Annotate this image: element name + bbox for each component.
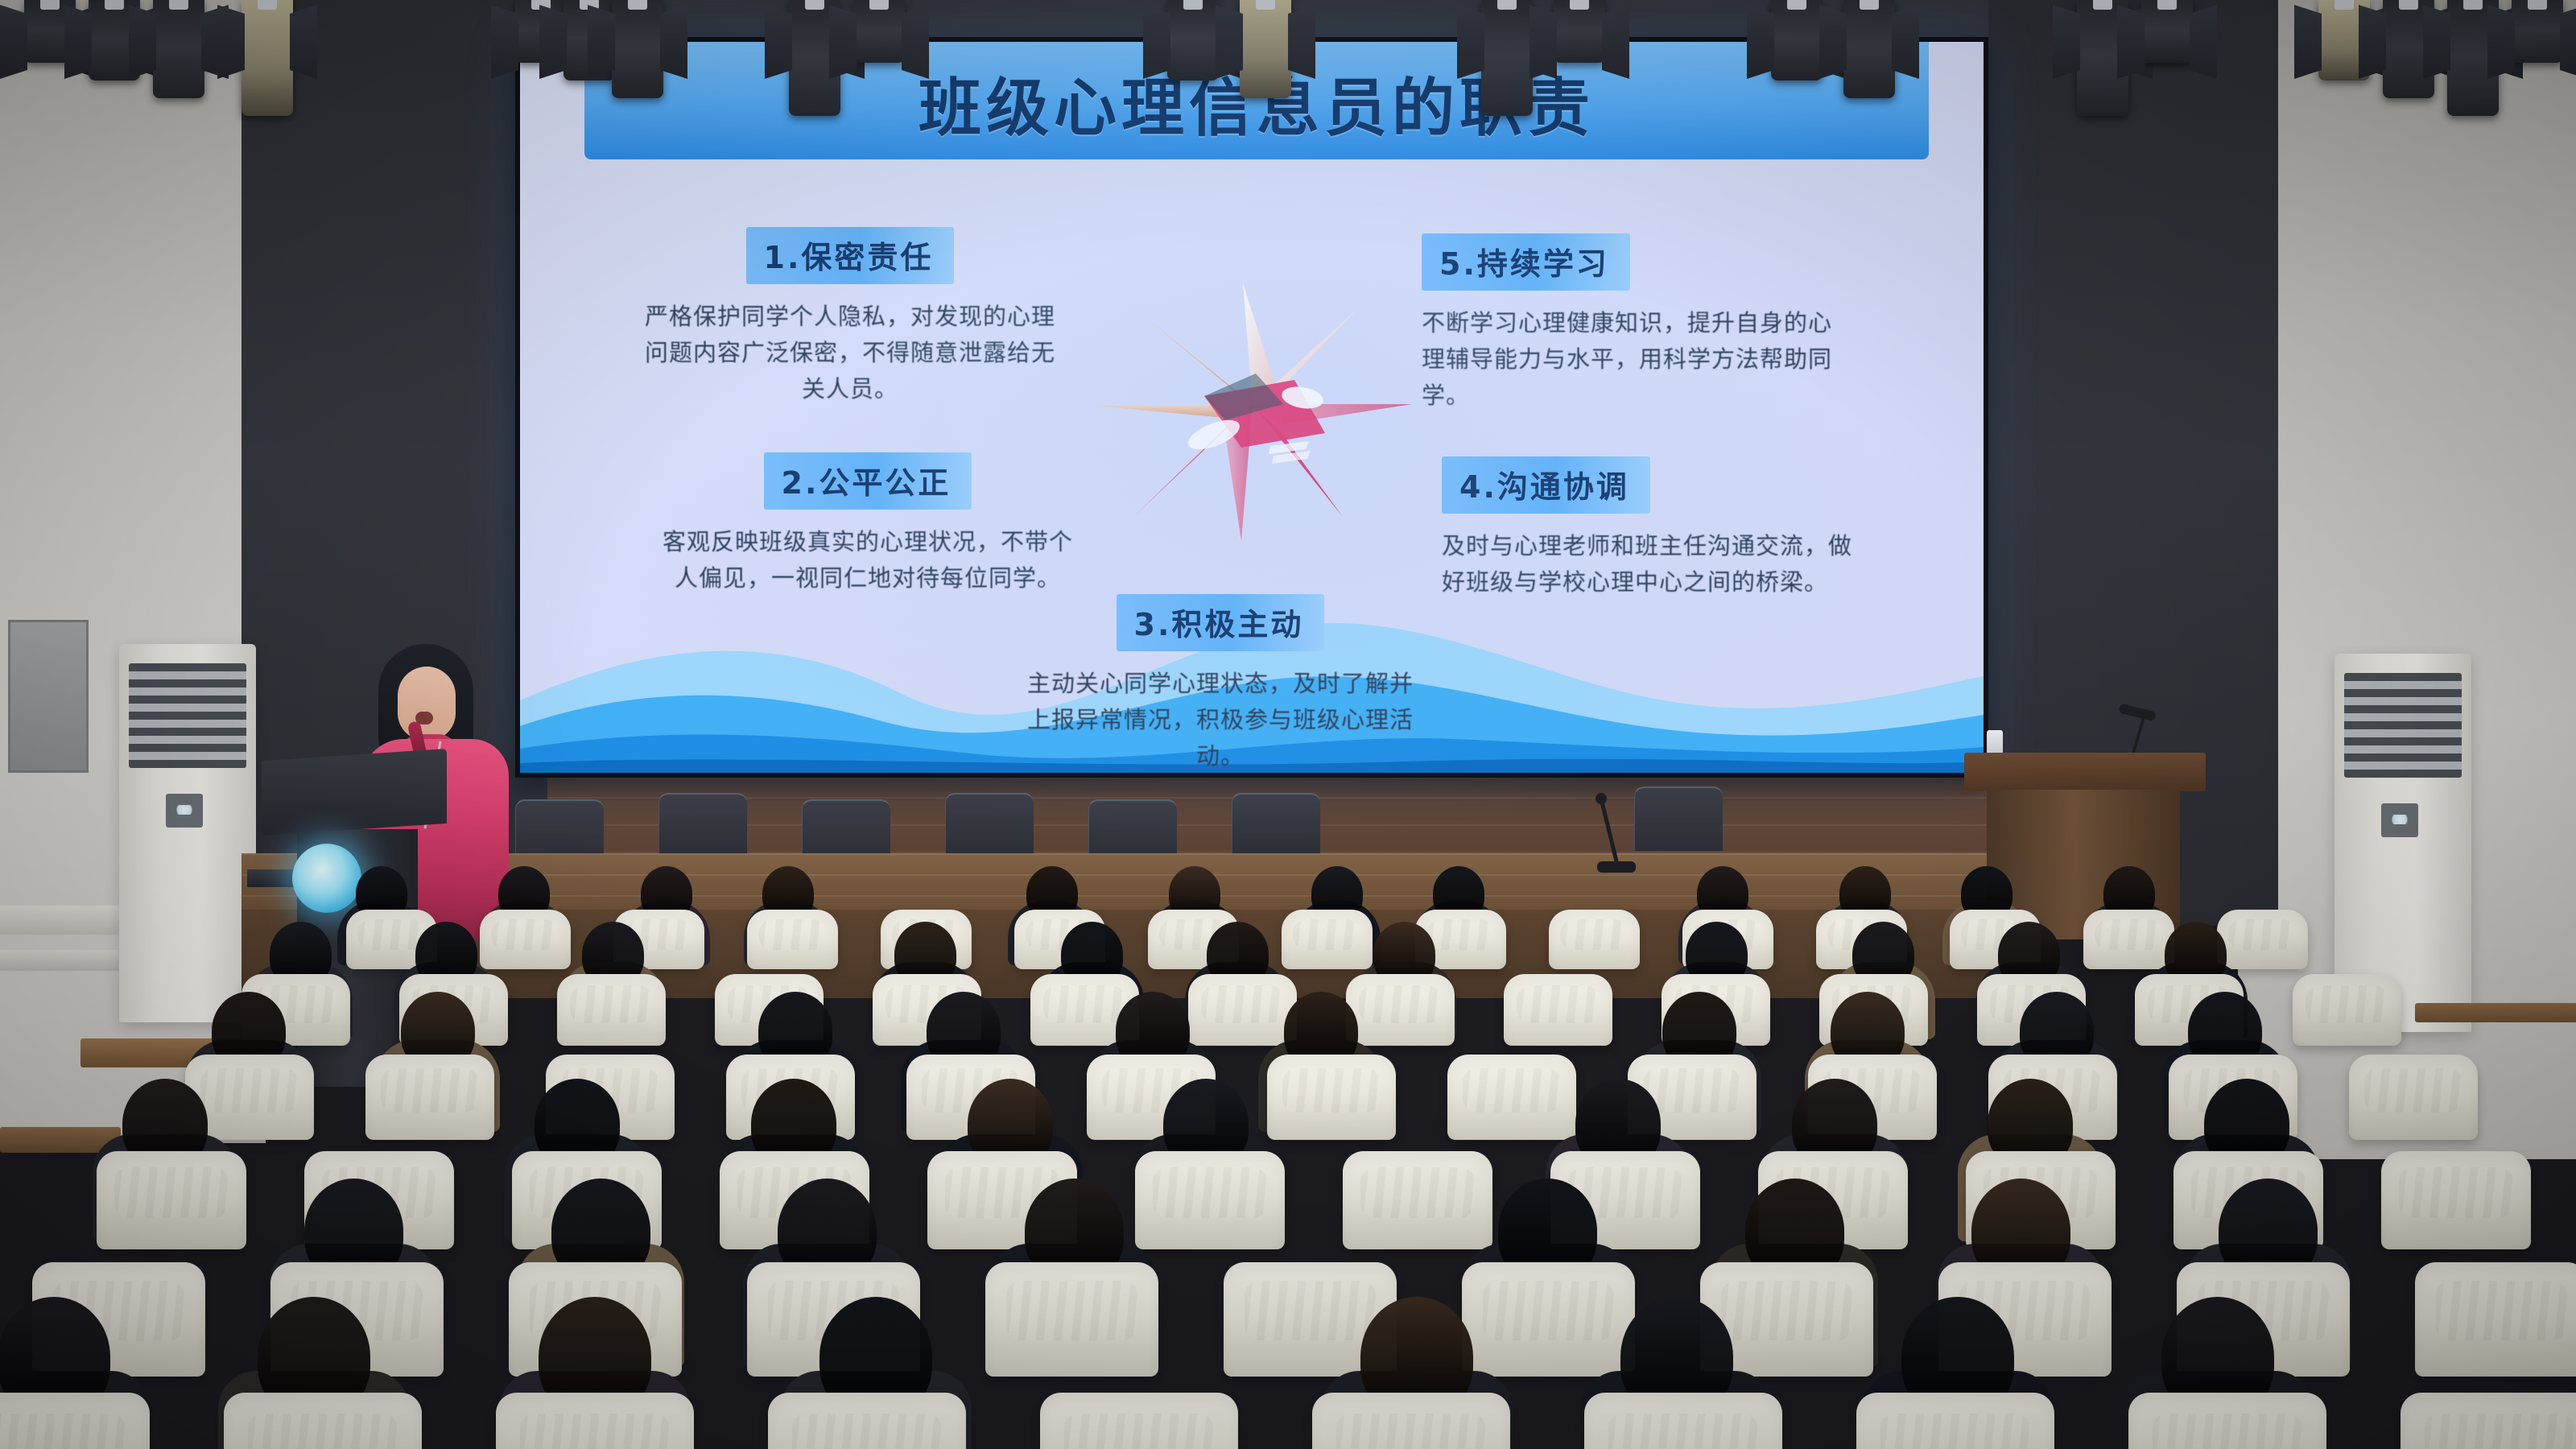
slide-block-3: 3.积极主动 主动关心同学心理状态，及时了解并上报异常情况，积极参与班级心理活动… <box>1027 594 1414 773</box>
lamp-yoke <box>1787 0 1806 10</box>
auditorium-seat <box>1462 1262 1635 1377</box>
lamp-yoke <box>40 0 60 10</box>
origami-star-graphic <box>1084 275 1422 541</box>
lamp-barn-door-icon <box>765 5 792 79</box>
lamp-yoke <box>805 0 824 10</box>
auditorium-scene: 班级心理信息员的职责 <box>0 0 2576 1449</box>
ac-display <box>2381 803 2418 837</box>
stage-light-3 <box>153 0 204 98</box>
auditorium-seat <box>557 974 666 1046</box>
slide-block-5-body: 不断学习心理健康知识，提升自身的心理辅导能力与水平，用科学方法帮助同学。 <box>1422 305 1840 414</box>
lamp-yoke <box>258 0 277 10</box>
auditorium-seat <box>97 1151 246 1249</box>
stage-light-9 <box>853 0 905 63</box>
lamp-yoke <box>1497 0 1517 10</box>
slide-block-2-heading: 2.公平公正 <box>764 452 972 510</box>
lamp-barn-door-icon <box>1288 5 1315 79</box>
slide-block-1-body: 严格保护同学个人隐私，对发现的心理问题内容广泛保密，不得随意泄露给无关人员。 <box>641 299 1059 407</box>
lamp-barn-door-icon <box>2294 5 2322 79</box>
podium-emblem-light <box>292 844 361 913</box>
auditorium-seat <box>2401 1393 2576 1449</box>
auditorium-seat <box>1135 1151 1285 1249</box>
auditorium-seat <box>1267 1055 1396 1140</box>
stage-light-13 <box>1554 0 1605 63</box>
lamp-yoke <box>2528 0 2547 10</box>
lamp-barn-door-icon <box>2423 5 2450 79</box>
auditorium-seat <box>1346 974 1455 1046</box>
slide-block-4-body: 及时与心理老师和班主任沟通交流，做好班级与学校心理中心之间的桥梁。 <box>1442 528 1860 601</box>
auditorium-seat <box>985 1262 1158 1377</box>
stage-chair <box>1232 793 1320 857</box>
podium-shelf <box>247 869 297 887</box>
auditorium-seat <box>496 1393 694 1449</box>
auditorium-seat <box>480 910 571 969</box>
lectern-top <box>1964 753 2206 791</box>
lamp-barn-door-icon <box>588 5 615 79</box>
auditorium-seat <box>2349 1055 2478 1140</box>
lamp-barn-door-icon <box>64 5 92 79</box>
auditorium-seat <box>2381 1151 2531 1249</box>
stage-light-15 <box>1843 0 1895 98</box>
lamp-barn-door-icon <box>829 5 857 79</box>
lamp-yoke <box>1860 0 1879 10</box>
auditorium-seat <box>2083 910 2174 969</box>
auditorium-seat <box>768 1393 966 1449</box>
projection-screen: 班级心理信息员的职责 <box>515 37 1988 778</box>
stage-light-7 <box>612 0 663 98</box>
lamp-barn-door-icon <box>2117 5 2145 79</box>
lamp-barn-door-icon <box>1143 5 1170 79</box>
lamp-barn-door-icon <box>129 5 156 79</box>
slide-block-3-body: 主动关心同学心理状态，及时了解并上报异常情况，积极参与班级心理活动。 <box>1027 666 1414 773</box>
stage-light-21 <box>2512 0 2563 63</box>
lamp-yoke <box>1256 0 1275 10</box>
lamp-yoke <box>2157 0 2177 10</box>
lamp-barn-door-icon <box>2053 5 2080 79</box>
lamp-yoke <box>2463 0 2483 10</box>
stage-light-14 <box>1771 0 1823 80</box>
auditorium-seat <box>1188 974 1297 1046</box>
lamp-yoke <box>628 0 647 10</box>
lamp-yoke <box>2334 0 2354 10</box>
auditorium-seat <box>1504 974 1612 1046</box>
lamp-barn-door-icon <box>1819 5 1847 79</box>
lamp-yoke <box>2399 0 2418 10</box>
lamp-yoke <box>1570 0 1589 10</box>
lamp-barn-door-icon <box>290 5 317 79</box>
ac-louver-icon <box>129 663 246 768</box>
auditorium-seat <box>1856 1393 2054 1449</box>
lamp-barn-door-icon <box>2359 5 2386 79</box>
lamp-barn-door-icon <box>660 5 687 79</box>
slide-block-1: 1.保密责任 严格保护同学个人隐私，对发现的心理问题内容广泛保密，不得随意泄露给… <box>641 227 1059 407</box>
lamp-barn-door-icon <box>2560 5 2576 79</box>
lamp-yoke <box>105 0 124 10</box>
auditorium-seat <box>2217 910 2308 969</box>
lamp-barn-door-icon <box>1216 5 1243 79</box>
slide-block-4: 4.沟通协调 及时与心理老师和班主任沟通交流，做好班级与学校心理中心之间的桥梁。 <box>1442 456 1860 601</box>
audience-seating <box>0 910 2576 1449</box>
lamp-barn-door-icon <box>1747 5 1774 79</box>
lamp-barn-door-icon <box>1602 5 1629 79</box>
presentation-slide: 班级心理信息员的职责 <box>520 42 1984 773</box>
auditorium-seat <box>1312 1393 1510 1449</box>
stage-light-4 <box>242 0 293 116</box>
slide-block-2-body: 客观反映班级真实的心理状况，不带个人偏见，一视同仁地对待每位同学。 <box>658 524 1077 597</box>
auditorium-seat <box>747 910 838 969</box>
lamp-barn-door-icon <box>1457 5 1484 79</box>
lamp-barn-door-icon <box>1529 5 1557 79</box>
auditorium-seat <box>2293 974 2401 1046</box>
auditorium-seat <box>2128 1393 2326 1449</box>
slide-block-3-heading: 3.积极主动 <box>1117 594 1325 651</box>
lamp-yoke <box>869 0 889 10</box>
lamp-barn-door-icon <box>902 5 929 79</box>
stage-chair <box>945 793 1034 857</box>
stage-light-11 <box>1240 0 1291 98</box>
lamp-yoke <box>169 0 188 10</box>
ac-display <box>166 794 203 828</box>
auditorium-seat <box>1282 910 1373 969</box>
lamp-barn-door-icon <box>2190 5 2217 79</box>
wall-electrical-panel <box>8 620 89 773</box>
auditorium-seat <box>365 1055 494 1140</box>
slide-block-1-heading: 1.保密责任 <box>746 227 955 284</box>
auditorium-seat <box>224 1393 422 1449</box>
water-bottle <box>1987 730 2003 754</box>
lamp-barn-door-icon <box>539 5 567 79</box>
lamp-barn-door-icon <box>2487 5 2515 79</box>
stage-light-10 <box>1167 0 1219 80</box>
podium-desktop <box>262 749 447 836</box>
stage-chair <box>658 793 747 857</box>
presenter-face <box>398 667 456 741</box>
ac-louver-icon <box>2344 673 2462 778</box>
lamp-barn-door-icon <box>0 5 27 79</box>
stage-light-12 <box>1481 0 1533 116</box>
table-microphone <box>1578 787 1655 876</box>
auditorium-seat <box>1584 1393 1782 1449</box>
auditorium-seat <box>0 1393 150 1449</box>
auditorium-seat <box>1343 1151 1492 1249</box>
auditorium-seat <box>1549 910 1640 969</box>
lamp-barn-door-icon <box>1892 5 1919 79</box>
auditorium-seat <box>2415 1262 2576 1377</box>
slide-block-4-heading: 4.沟通协调 <box>1442 456 1650 514</box>
slide-block-5: 5.持续学习 不断学习心理健康知识，提升自身的心理辅导能力与水平，用科学方法帮助… <box>1422 233 1840 414</box>
stage-light-17 <box>2141 0 2193 63</box>
lamp-barn-door-icon <box>217 5 245 79</box>
lamp-yoke <box>2093 0 2112 10</box>
lamp-yoke <box>1183 0 1203 10</box>
slide-block-5-heading: 5.持续学习 <box>1422 233 1630 291</box>
auditorium-seat <box>1447 1055 1576 1140</box>
slide-block-2: 2.公平公正 客观反映班级真实的心理状况，不带个人偏见，一视同仁地对待每位同学。 <box>658 452 1077 597</box>
lamp-barn-door-icon <box>491 5 518 79</box>
auditorium-seat <box>1040 1393 1238 1449</box>
